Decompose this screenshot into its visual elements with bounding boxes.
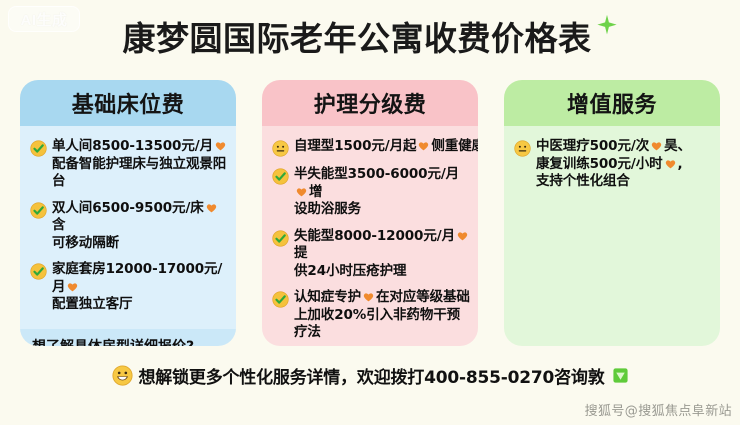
card-header-value-added-services: 增值服务 bbox=[504, 80, 720, 126]
list-item: 认知症专护在对应等级基础 上加收20%引入非药物干预疗法 bbox=[268, 289, 470, 342]
check-circle-icon bbox=[272, 168, 289, 185]
list-item-text: 家庭套房12000-17000元/月 配置独立客厅 bbox=[52, 261, 228, 314]
card-header-basic-bed-fee: 基础床位费 bbox=[20, 80, 236, 126]
check-circle-icon bbox=[272, 291, 289, 308]
smiley-grin-icon bbox=[112, 365, 133, 386]
ai-generated-badge: AI生成 bbox=[8, 6, 80, 32]
smiley-neutral-icon bbox=[272, 140, 289, 157]
orange-heart-icon bbox=[295, 185, 308, 198]
list-item: 双人间6500-9500元/床含 可移动隔断 bbox=[26, 200, 228, 253]
list-item-text: 双人间6500-9500元/床含 可移动隔断 bbox=[52, 200, 228, 253]
card-body-nursing-grade-fee: 自理型1500元/月起侧重健康监测半失能型3500-6000元/月增 设助浴服务… bbox=[262, 126, 478, 346]
page-title-row: 康梦圆国际老年公寓收费价格表 bbox=[0, 8, 740, 64]
list-item: 单人间8500-13500元/月 配备智能护理床与独立观景阳台 bbox=[26, 138, 228, 191]
bottom-cta-banner[interactable]: 想解锁更多个性化服务详情，欢迎拨打400-855-0270咨询敦 bbox=[0, 358, 740, 392]
orange-heart-icon bbox=[417, 139, 430, 152]
check-circle-icon bbox=[30, 140, 47, 157]
pricing-card-nursing-grade-fee: 护理分级费自理型1500元/月起侧重健康监测半失能型3500-6000元/月增 … bbox=[262, 80, 478, 346]
list-item-text: 失能型8000-12000元/月提 供24小时压疮护理 bbox=[294, 228, 470, 281]
pricing-card-value-added-services: 增值服务中医理疗500元/次昊、 康复训练500元/小时, 支持个性化组合 bbox=[504, 80, 720, 346]
card-title: 基础床位费 bbox=[72, 87, 185, 119]
orange-heart-icon bbox=[214, 139, 227, 152]
ai-generated-badge-label: AI生成 bbox=[20, 9, 67, 30]
list-item: 失能型8000-12000元/月提 供24小时压疮护理 bbox=[268, 228, 470, 281]
green-check-box-icon bbox=[612, 367, 629, 384]
list-item: 自理型1500元/月起侧重健康监测 bbox=[268, 138, 470, 157]
orange-heart-icon bbox=[456, 229, 469, 242]
card-footer-callout[interactable]: 想了解具体房型详细报价?可拨打400-855-0270咨询敦 bbox=[20, 329, 236, 347]
sparkle-star-icon bbox=[596, 14, 618, 36]
list-item: 半失能型3500-6000元/月增 设助浴服务 bbox=[268, 166, 470, 219]
card-body-basic-bed-fee: 单人间8500-13500元/月 配备智能护理床与独立观景阳台双人间6500-9… bbox=[20, 126, 236, 329]
page-title: 康梦圆国际老年公寓收费价格表 bbox=[123, 12, 592, 60]
card-title: 护理分级费 bbox=[314, 87, 427, 119]
list-item-text: 认知症专护在对应等级基础 上加收20%引入非药物干预疗法 bbox=[294, 289, 470, 342]
list-item-text: 单人间8500-13500元/月 配备智能护理床与独立观景阳台 bbox=[52, 138, 228, 191]
bottom-cta-text: 想解锁更多个性化服务详情，欢迎拨打400-855-0270咨询敦 bbox=[139, 363, 605, 388]
list-item: 家庭套房12000-17000元/月 配置独立客厅 bbox=[26, 261, 228, 314]
check-circle-icon bbox=[30, 263, 47, 280]
orange-heart-icon bbox=[664, 157, 677, 170]
orange-heart-icon bbox=[362, 290, 375, 303]
watermark: 搜狐号@搜狐焦点阜新站 bbox=[585, 400, 732, 419]
card-header-nursing-grade-fee: 护理分级费 bbox=[262, 80, 478, 126]
pricing-card-basic-bed-fee: 基础床位费单人间8500-13500元/月 配备智能护理床与独立观景阳台双人间6… bbox=[20, 80, 236, 346]
card-footer-line-1: 想了解具体房型详细报价? bbox=[32, 338, 226, 347]
orange-heart-icon bbox=[205, 201, 218, 214]
list-item-text: 中医理疗500元/次昊、 康复训练500元/小时, 支持个性化组合 bbox=[536, 138, 691, 191]
card-body-value-added-services: 中医理疗500元/次昊、 康复训练500元/小时, 支持个性化组合 bbox=[504, 126, 720, 346]
check-circle-icon bbox=[30, 202, 47, 219]
card-title: 增值服务 bbox=[567, 87, 657, 119]
pricing-cards-row: 基础床位费单人间8500-13500元/月 配备智能护理床与独立观景阳台双人间6… bbox=[0, 80, 740, 346]
orange-heart-icon bbox=[66, 280, 79, 293]
list-item: 中医理疗500元/次昊、 康复训练500元/小时, 支持个性化组合 bbox=[510, 138, 712, 191]
list-item-text: 自理型1500元/月起侧重健康监测 bbox=[294, 138, 478, 156]
orange-heart-icon bbox=[650, 139, 663, 152]
check-circle-icon bbox=[272, 230, 289, 247]
list-item-text: 半失能型3500-6000元/月增 设助浴服务 bbox=[294, 166, 470, 219]
smiley-neutral-icon bbox=[514, 140, 531, 157]
